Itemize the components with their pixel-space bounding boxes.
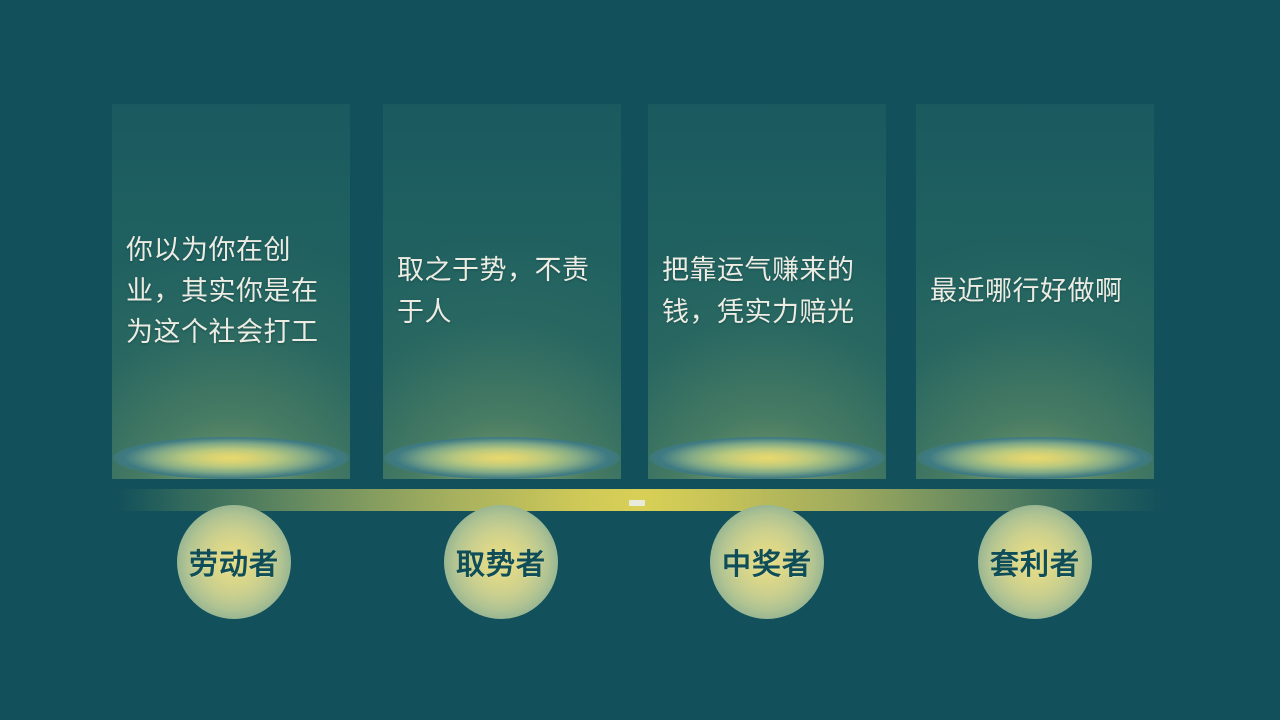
role-circle-3[interactable]: 中奖者 [710, 505, 824, 619]
quote-text-3: 把靠运气赚来的钱，凭实力赔光 [662, 250, 872, 332]
role-label-4: 套利者 [990, 541, 1080, 583]
quote-panel-2-inner: 取之于势，不责于人 [397, 104, 607, 479]
quote-panel-2: 取之于势，不责于人 [383, 104, 621, 479]
quote-text-4: 最近哪行好做啊 [930, 271, 1123, 312]
role-circle-4[interactable]: 套利者 [978, 505, 1092, 619]
panel-base-glow-4 [917, 437, 1153, 479]
quote-text-2: 取之于势，不责于人 [397, 250, 607, 332]
quote-panel-1: 你以为你在创业，其实你是在为这个社会打工 [112, 104, 350, 479]
beam-center-marker [629, 500, 645, 506]
role-circle-1[interactable]: 劳动者 [177, 505, 291, 619]
role-label-1: 劳动者 [189, 541, 279, 583]
quote-panel-3-inner: 把靠运气赚来的钱，凭实力赔光 [662, 104, 872, 479]
quote-panel-4-inner: 最近哪行好做啊 [930, 104, 1140, 479]
role-label-3: 中奖者 [722, 541, 812, 583]
quote-panel-1-inner: 你以为你在创业，其实你是在为这个社会打工 [126, 104, 336, 479]
role-label-2: 取势者 [456, 541, 546, 583]
quote-panel-3: 把靠运气赚来的钱，凭实力赔光 [648, 104, 886, 479]
panel-base-glow-1 [113, 437, 349, 479]
panel-base-glow-3 [649, 437, 885, 479]
quote-text-1: 你以为你在创业，其实你是在为这个社会打工 [126, 230, 336, 353]
panel-base-glow-2 [384, 437, 620, 479]
quote-panel-4: 最近哪行好做啊 [916, 104, 1154, 479]
slide-canvas: 你以为你在创业，其实你是在为这个社会打工 取之于势，不责于人 把靠运气赚来的钱，… [0, 0, 1280, 720]
role-circle-2[interactable]: 取势者 [444, 505, 558, 619]
